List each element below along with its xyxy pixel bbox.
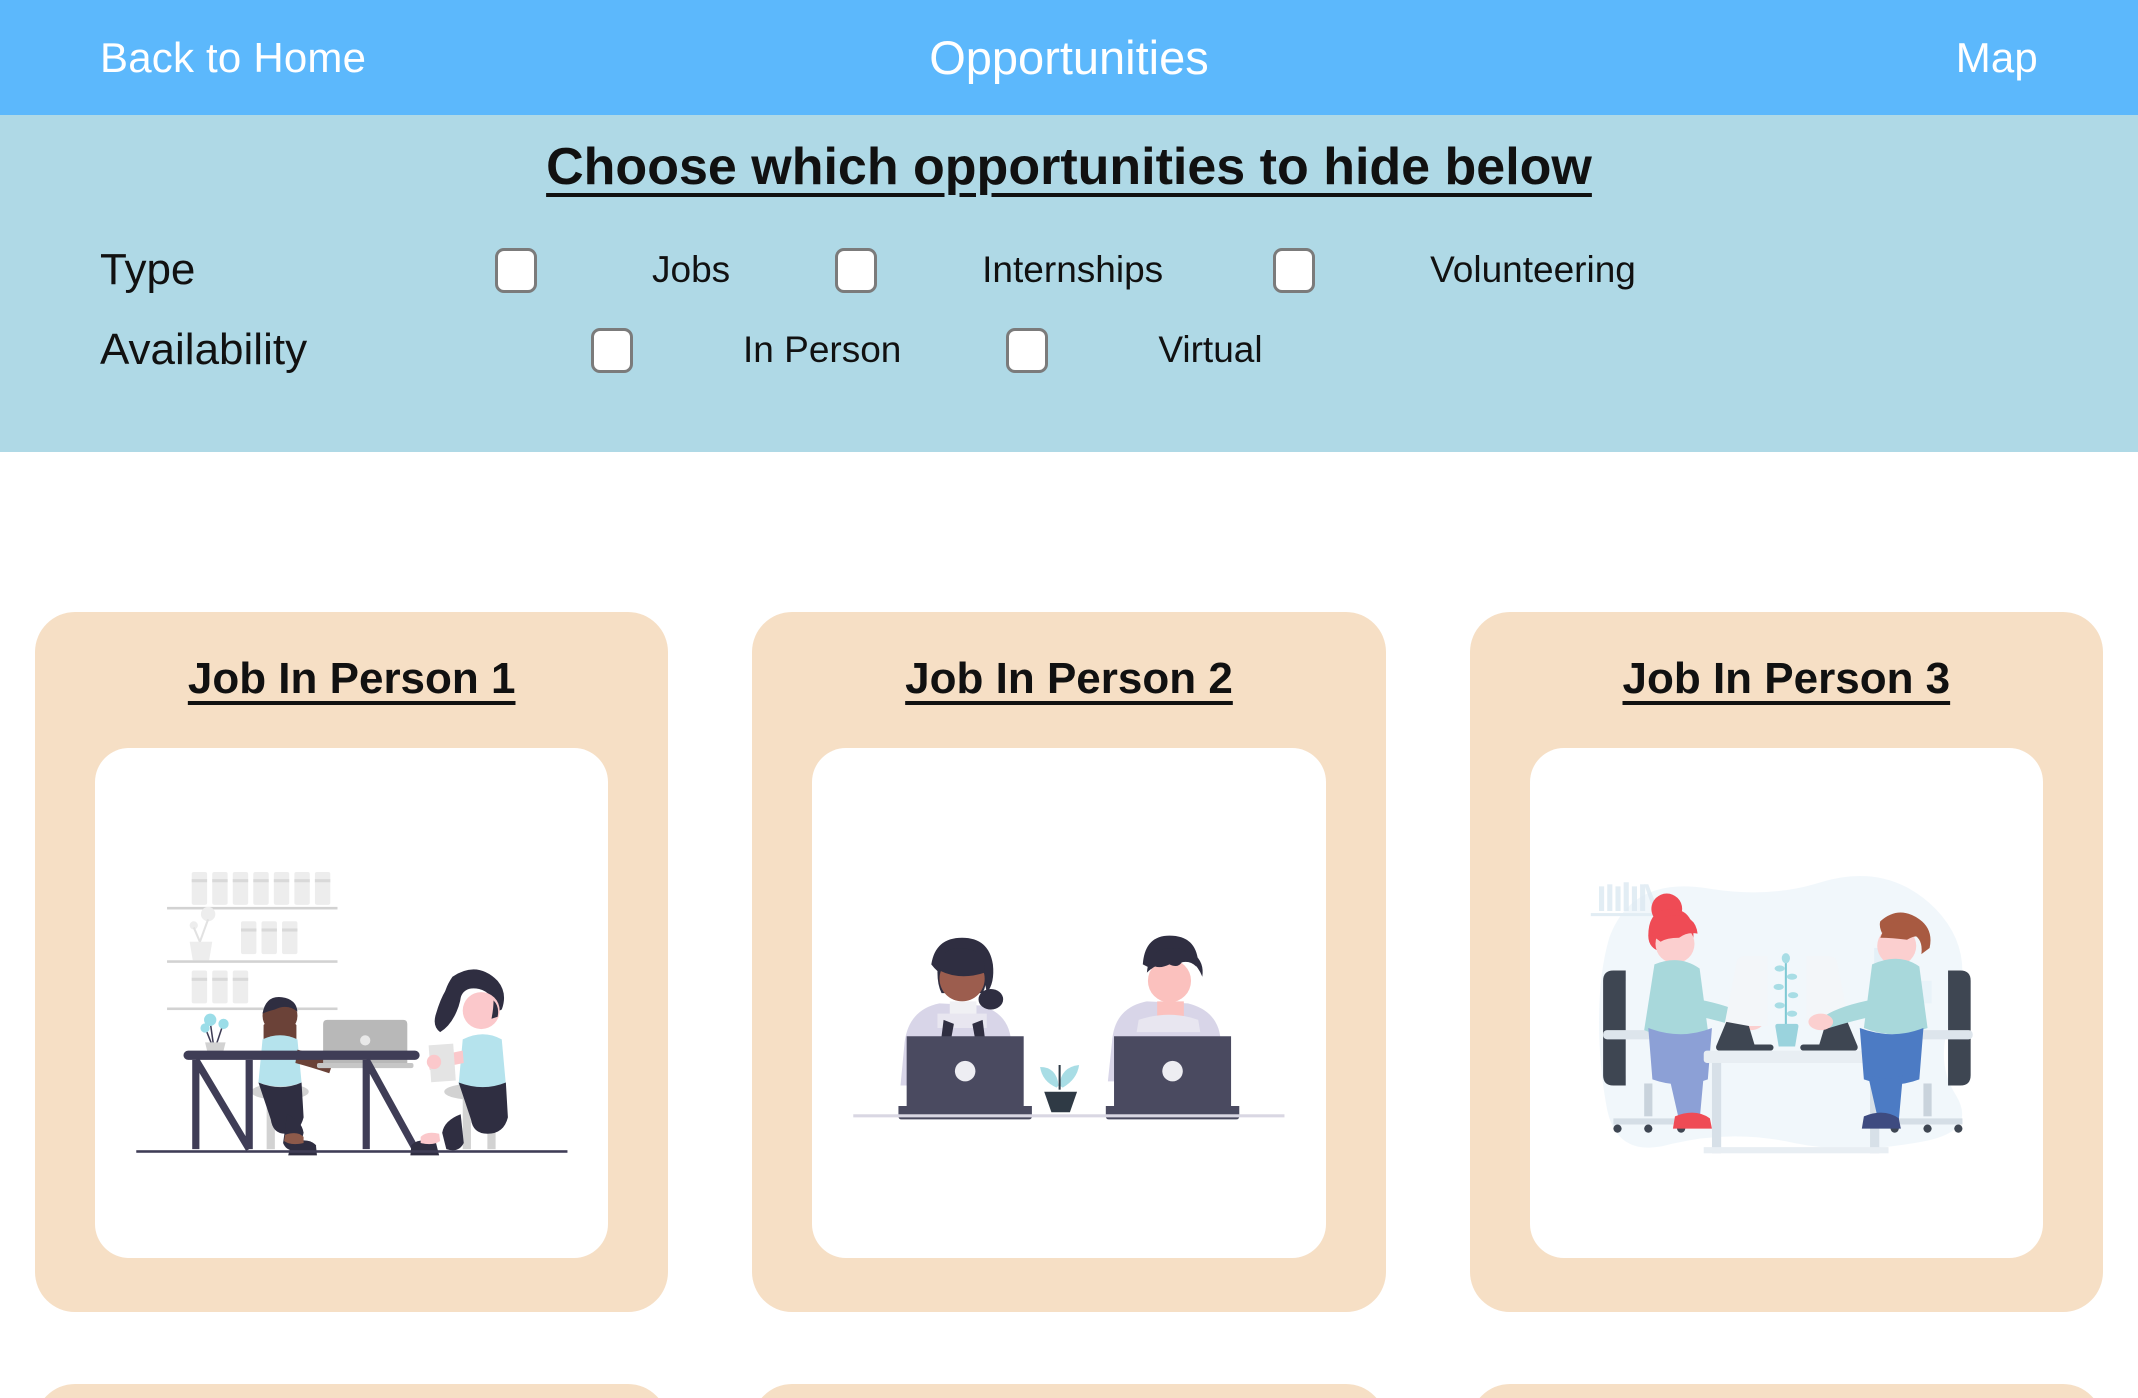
checkbox-jobs[interactable]	[495, 248, 537, 293]
opportunity-card[interactable]	[1470, 1384, 2103, 1398]
opportunity-grid: Job In Person 1	[0, 452, 2138, 1398]
checkbox-virtual[interactable]	[1006, 328, 1048, 373]
checkbox-label-jobs[interactable]: Jobs	[652, 249, 730, 291]
filter-row-type: Type Jobs Internships Volunteering	[0, 231, 2138, 309]
opportunity-card-title[interactable]: Job In Person 2	[905, 654, 1233, 704]
app-header: Back to Home Opportunities Map	[0, 0, 2138, 115]
filter-panel: Choose which opportunities to hide below…	[0, 115, 2138, 452]
two-people-facing-monitors-desk-icon	[1560, 779, 2012, 1228]
filter-row-label-type: Type	[100, 245, 385, 295]
checkbox-label-in-person[interactable]: In Person	[743, 329, 901, 371]
checkbox-label-virtual[interactable]: Virtual	[1158, 329, 1262, 371]
opportunity-card[interactable]: Job In Person 1	[35, 612, 668, 1312]
checkbox-volunteering[interactable]	[1273, 248, 1315, 293]
opportunity-card[interactable]	[752, 1384, 1385, 1398]
map-link[interactable]: Map	[1956, 34, 2038, 82]
opportunity-card-image	[95, 748, 608, 1258]
checkbox-label-internships[interactable]: Internships	[982, 249, 1163, 291]
checkbox-in-person[interactable]	[591, 328, 633, 373]
opportunity-card[interactable]: Job In Person 3	[1470, 612, 2103, 1312]
opportunity-card[interactable]	[35, 1384, 668, 1398]
checkbox-label-volunteering[interactable]: Volunteering	[1430, 249, 1636, 291]
back-to-home-link[interactable]: Back to Home	[100, 34, 366, 82]
checkbox-internships[interactable]	[835, 248, 877, 293]
opportunity-card-title[interactable]: Job In Person 3	[1623, 654, 1951, 704]
filter-row-label-availability: Availability	[100, 325, 385, 375]
opportunity-card-image	[1530, 748, 2043, 1258]
opportunity-card[interactable]: Job In Person 2	[752, 612, 1385, 1312]
two-people-desk-laptop-shelves-icon	[126, 779, 578, 1228]
opportunity-card-title[interactable]: Job In Person 1	[188, 654, 516, 704]
opportunity-card-image	[812, 748, 1325, 1258]
two-people-laptops-plant-icon	[843, 779, 1295, 1228]
filter-row-availability: Availability In Person Virtual	[0, 311, 2138, 389]
filter-heading: Choose which opportunities to hide below	[0, 137, 2138, 197]
